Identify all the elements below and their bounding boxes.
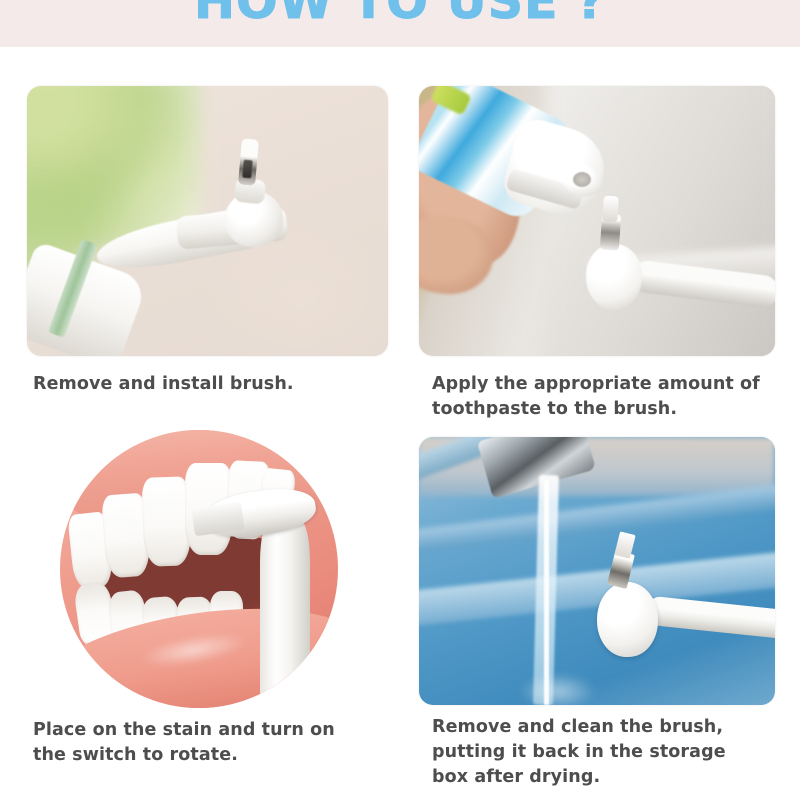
step-3-photo-background: [60, 430, 338, 708]
brush-head-bulb: [586, 244, 642, 310]
header-band: HOW TO USE ?: [0, 0, 800, 47]
caption-line: box after drying.: [432, 765, 787, 790]
step-1-photo-background: [27, 86, 388, 356]
polisher-tip: [602, 196, 619, 223]
brush-head-bulb: [597, 582, 658, 657]
page-title: HOW TO USE ?: [0, 0, 800, 30]
brush-shaft: [646, 596, 775, 640]
step-4-image: [419, 437, 775, 705]
step-2-photo-background: [419, 86, 775, 356]
step-4-caption: Remove and clean the brush, putting it b…: [432, 715, 787, 790]
bathroom-wall-blur: [547, 86, 775, 356]
step-4-photo-background: [419, 437, 775, 705]
step-1-caption: Remove and install brush.: [33, 372, 393, 397]
caption-line: toothpaste to the brush.: [432, 397, 782, 422]
infographic-page: HOW TO USE ?: [0, 0, 800, 800]
caption-line: Remove and clean the brush,: [432, 715, 787, 740]
step-3-image: [60, 430, 338, 708]
water-stream-highlight: [544, 480, 550, 705]
step-3-caption: Place on the stain and turn on the switc…: [33, 718, 393, 768]
step-2-caption: Apply the appropriate amount of toothpas…: [432, 372, 782, 422]
caption-line: Apply the appropriate amount of: [432, 372, 782, 397]
brush-handle-stem: [260, 519, 310, 708]
step-2-image: [419, 86, 775, 356]
caption-line: Place on the stain and turn on: [33, 718, 393, 743]
caption-line: Remove and install brush.: [33, 372, 393, 397]
water-splash: [519, 673, 597, 705]
caption-line: putting it back in the storage: [432, 740, 787, 765]
toothpaste-nozzle-opening: [573, 172, 591, 187]
caption-line: the switch to rotate.: [33, 743, 393, 768]
step-1-image: [27, 86, 388, 356]
polisher-tip-shaft: [242, 160, 253, 179]
